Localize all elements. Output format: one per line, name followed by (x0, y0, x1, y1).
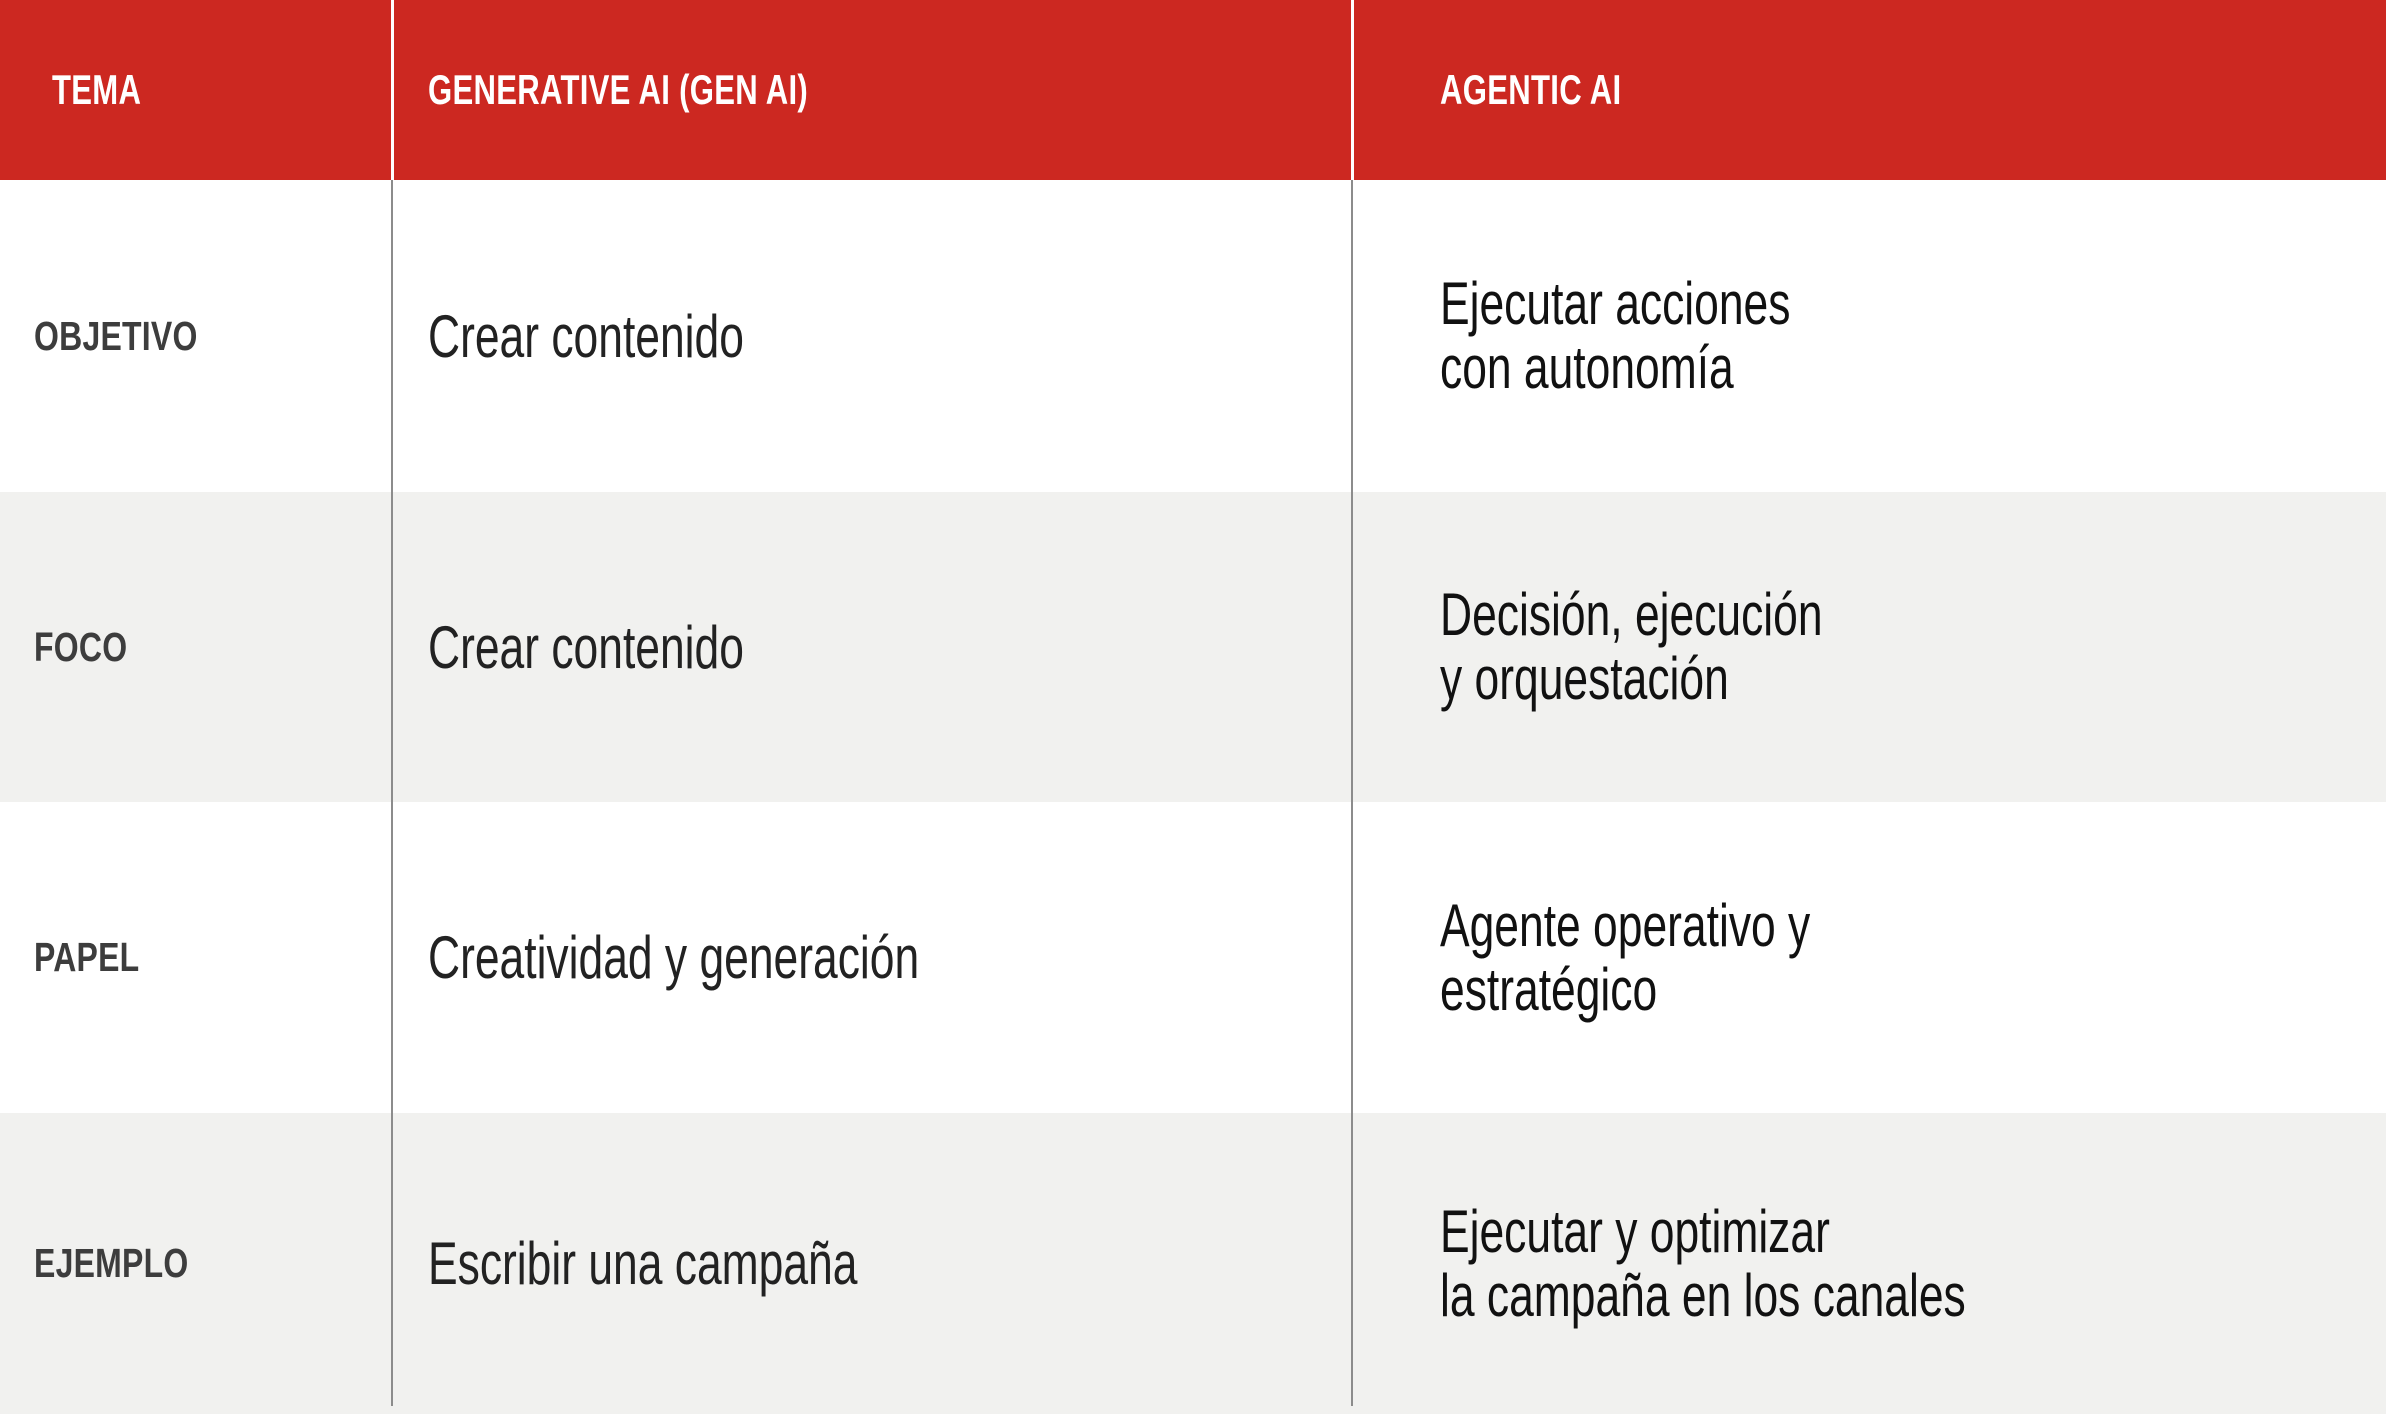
header-column-divider-2 (1351, 0, 1354, 180)
row-agentic-ai-cell: Agente operativo y estratégico (1440, 802, 2380, 1113)
row-agentic-ai-text: Decisión, ejecución y orquestación (1440, 583, 1823, 710)
column-header-tema: TEMA (52, 0, 466, 180)
row-agentic-ai-line-2: la campaña en los canales (1440, 1264, 1966, 1328)
row-topic-label: OBJETIVO (34, 313, 198, 360)
row-agentic-ai-text: Ejecutar y optimizar la campaña en los c… (1440, 1200, 1966, 1327)
row-agentic-ai-line-1: Ejecutar acciones (1440, 272, 1790, 336)
column-header-agentic-ai: AGENTIC AI (1440, 0, 2386, 180)
row-generative-ai-text: Crear contenido (428, 613, 744, 682)
row-generative-ai-cell: Crear contenido (428, 180, 1328, 492)
table-row: FOCO Crear contenido Decisión, ejecución… (0, 492, 2386, 802)
body-column-divider-2 (1351, 180, 1353, 1406)
row-agentic-ai-line-2: con autonomía (1440, 336, 1790, 400)
row-agentic-ai-cell: Ejecutar y optimizar la campaña en los c… (1440, 1113, 2380, 1414)
column-header-generative-ai-label: GENERATIVE AI (GEN AI) (428, 66, 808, 114)
row-agentic-ai-cell: Decisión, ejecución y orquestación (1440, 492, 2380, 802)
row-agentic-ai-cell: Ejecutar acciones con autonomía (1440, 180, 2380, 492)
row-topic-label: PAPEL (34, 934, 139, 981)
row-agentic-ai-line-2: estratégico (1440, 958, 1810, 1022)
row-topic-label: EJEMPLO (34, 1240, 188, 1287)
row-topic-cell: OBJETIVO (34, 180, 374, 492)
table-row: OBJETIVO Crear contenido Ejecutar accion… (0, 180, 2386, 492)
row-generative-ai-text: Creatividad y generación (428, 923, 919, 992)
row-generative-ai-cell: Creatividad y generación (428, 802, 1328, 1113)
table-header-row: TEMA GENERATIVE AI (GEN AI) AGENTIC AI (0, 0, 2386, 180)
row-agentic-ai-line-1: Agente operativo y (1440, 894, 1810, 958)
row-agentic-ai-text: Agente operativo y estratégico (1440, 894, 1810, 1021)
body-column-divider-1 (391, 180, 393, 1406)
row-agentic-ai-line-1: Decisión, ejecución (1440, 583, 1823, 647)
row-agentic-ai-text: Ejecutar acciones con autonomía (1440, 272, 1790, 399)
row-topic-cell: EJEMPLO (34, 1113, 374, 1414)
row-generative-ai-text: Escribir una campaña (428, 1229, 857, 1298)
table-row: EJEMPLO Escribir una campaña Ejecutar y … (0, 1113, 2386, 1414)
header-column-divider-1 (391, 0, 394, 180)
row-topic-label: FOCO (34, 624, 127, 671)
row-generative-ai-text: Crear contenido (428, 302, 744, 371)
row-topic-cell: FOCO (34, 492, 374, 802)
column-header-generative-ai: GENERATIVE AI (GEN AI) (428, 0, 1390, 180)
table-body: OBJETIVO Crear contenido Ejecutar accion… (0, 180, 2386, 1414)
row-generative-ai-cell: Crear contenido (428, 492, 1328, 802)
row-topic-cell: PAPEL (34, 802, 374, 1113)
column-header-tema-label: TEMA (52, 66, 141, 114)
column-header-agentic-ai-label: AGENTIC AI (1440, 66, 1621, 114)
row-agentic-ai-line-2: y orquestación (1440, 647, 1823, 711)
row-agentic-ai-line-1: Ejecutar y optimizar (1440, 1200, 1966, 1264)
row-generative-ai-cell: Escribir una campaña (428, 1113, 1328, 1414)
table-row: PAPEL Creatividad y generación Agente op… (0, 802, 2386, 1113)
comparison-table: TEMA GENERATIVE AI (GEN AI) AGENTIC AI O… (0, 0, 2386, 1414)
